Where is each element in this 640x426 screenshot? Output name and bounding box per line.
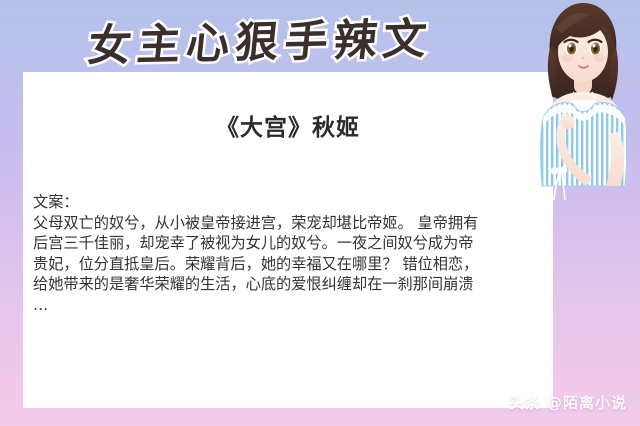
anime-girl-illustration [526, 0, 638, 200]
synopsis-line-2: 后宫三千佳丽，却宠幸了被视为女儿的奴兮。一夜之间奴兮成为帝 [33, 233, 545, 254]
page-title: 女主心狠手辣文 [85, 4, 435, 73]
banner-title-container: 女主心狠手辣文 [0, 8, 520, 70]
content-card: 《大宫》秋姬 文案： 父母双亡的奴兮，从小被皇帝接进宫，荣宠却堪比帝姬。 皇帝拥… [23, 72, 553, 408]
synopsis-line-3: 贵妃，位分直抵皇后。荣耀背后，她的幸福又在哪里？ 错位相恋， [33, 254, 545, 275]
book-title: 《大宫》秋姬 [23, 72, 553, 142]
poster-canvas: 女主心狠手辣文 [0, 0, 640, 426]
watermark: 头条 @陌离小说 [509, 392, 627, 413]
synopsis-line-1: 父母双亡的奴兮，从小被皇帝接进宫，荣宠却堪比帝姬。 皇帝拥有 [33, 213, 545, 234]
synopsis-body: 文案： 父母双亡的奴兮，从小被皇帝接进宫，荣宠却堪比帝姬。 皇帝拥有 后宫三千佳… [33, 192, 545, 315]
synopsis-line-5: … [33, 295, 545, 316]
synopsis-label: 文案： [33, 192, 545, 213]
synopsis-line-4: 给她带来的是奢华荣耀的生活，心底的爱恨纠缠却在一刹那间崩溃 [33, 274, 545, 295]
